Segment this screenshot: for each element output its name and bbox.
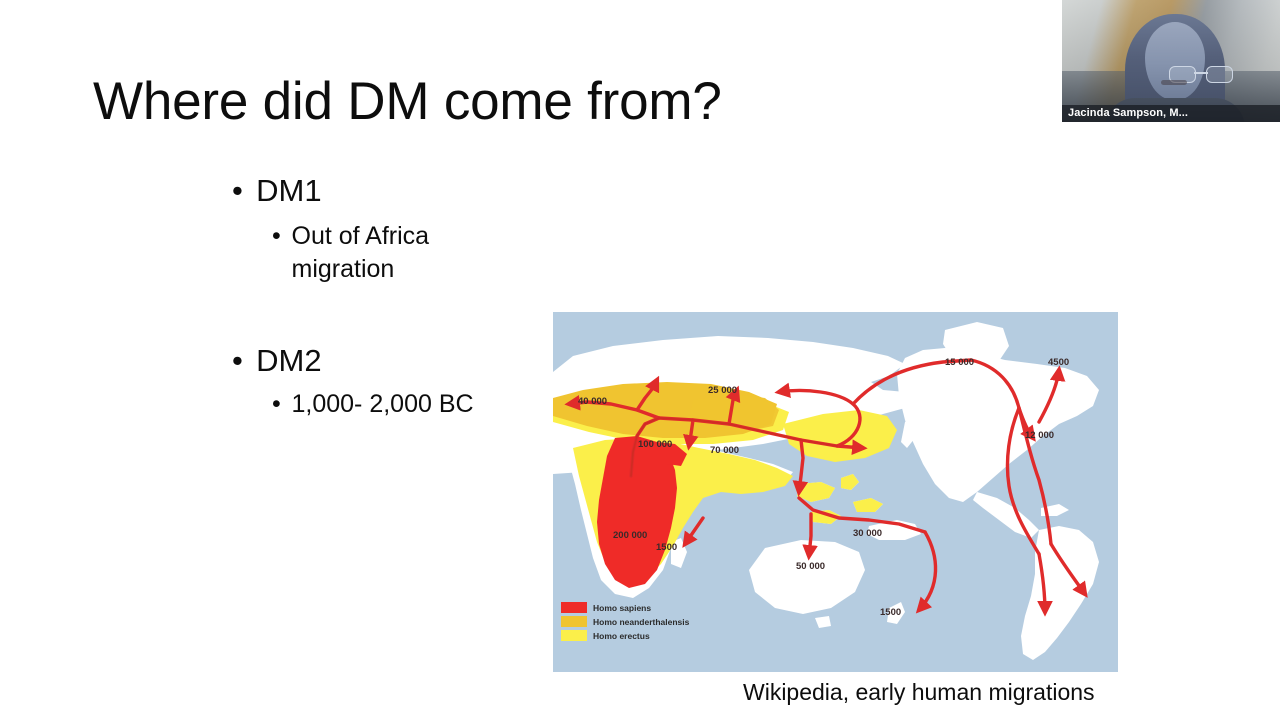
glasses-lens-right (1206, 66, 1233, 83)
map-year-label: 30 000 (853, 528, 882, 539)
webcam-participant-name: Jacinda Sampson, M... (1062, 105, 1280, 122)
legend-item-0: Homo sapiens (561, 602, 651, 613)
early-human-migrations-map: 200 000100 00040 00070 00025 00050 00030… (553, 312, 1118, 672)
bullet-level2-dm1-sub: •Out of Africa migration (272, 220, 467, 286)
face-shape (1145, 22, 1205, 100)
bullet-level1-dm1: •DM1 (232, 172, 322, 209)
mouth-shape (1161, 80, 1187, 85)
bullet-glyph-icon: • (272, 388, 292, 421)
map-year-label: 200 000 (613, 530, 647, 541)
legend-label-1: Homo neanderthalensis (593, 617, 690, 627)
map-year-label: 25 000 (708, 385, 737, 396)
bullet-level2-dm2-label: 1,000- 2,000 BC (292, 388, 474, 421)
map-year-label: 50 000 (796, 561, 825, 572)
legend-label-2: Homo erectus (593, 631, 650, 641)
legend-item-2: Homo erectus (561, 630, 650, 641)
glasses-icon (1169, 66, 1233, 81)
bullet-glyph-icon: • (232, 342, 256, 379)
map-year-label: 40 000 (578, 396, 607, 407)
map-year-label: 1500 (656, 542, 677, 553)
legend-item-1: Homo neanderthalensis (561, 616, 690, 627)
map-year-label: 70 000 (710, 445, 739, 456)
bullet-level2-dm1-label: Out of Africa migration (292, 220, 467, 286)
map-source-caption: Wikipedia, early human migrations (743, 679, 1095, 706)
bullet-level1-dm2-label: DM2 (256, 343, 321, 378)
bullet-glyph-icon: • (232, 172, 256, 209)
map-year-label: 15 000 (945, 357, 974, 368)
legend-label-0: Homo sapiens (593, 603, 651, 613)
map-year-label: 12 000 (1025, 430, 1054, 441)
bullet-level1-dm2: •DM2 (232, 342, 322, 379)
bullet-level2-dm2-sub: • 1,000- 2,000 BC (272, 388, 474, 421)
map-year-label: 4500 (1048, 357, 1069, 368)
map-year-label: 100 000 (638, 439, 672, 450)
bullet-glyph-icon: • (272, 220, 292, 253)
webcam-video-tile[interactable]: Jacinda Sampson, M... (1062, 0, 1280, 122)
bullet-level1-dm1-label: DM1 (256, 173, 321, 208)
map-year-label: 1500 (880, 607, 901, 618)
page-title: Where did DM come from? (93, 72, 722, 133)
